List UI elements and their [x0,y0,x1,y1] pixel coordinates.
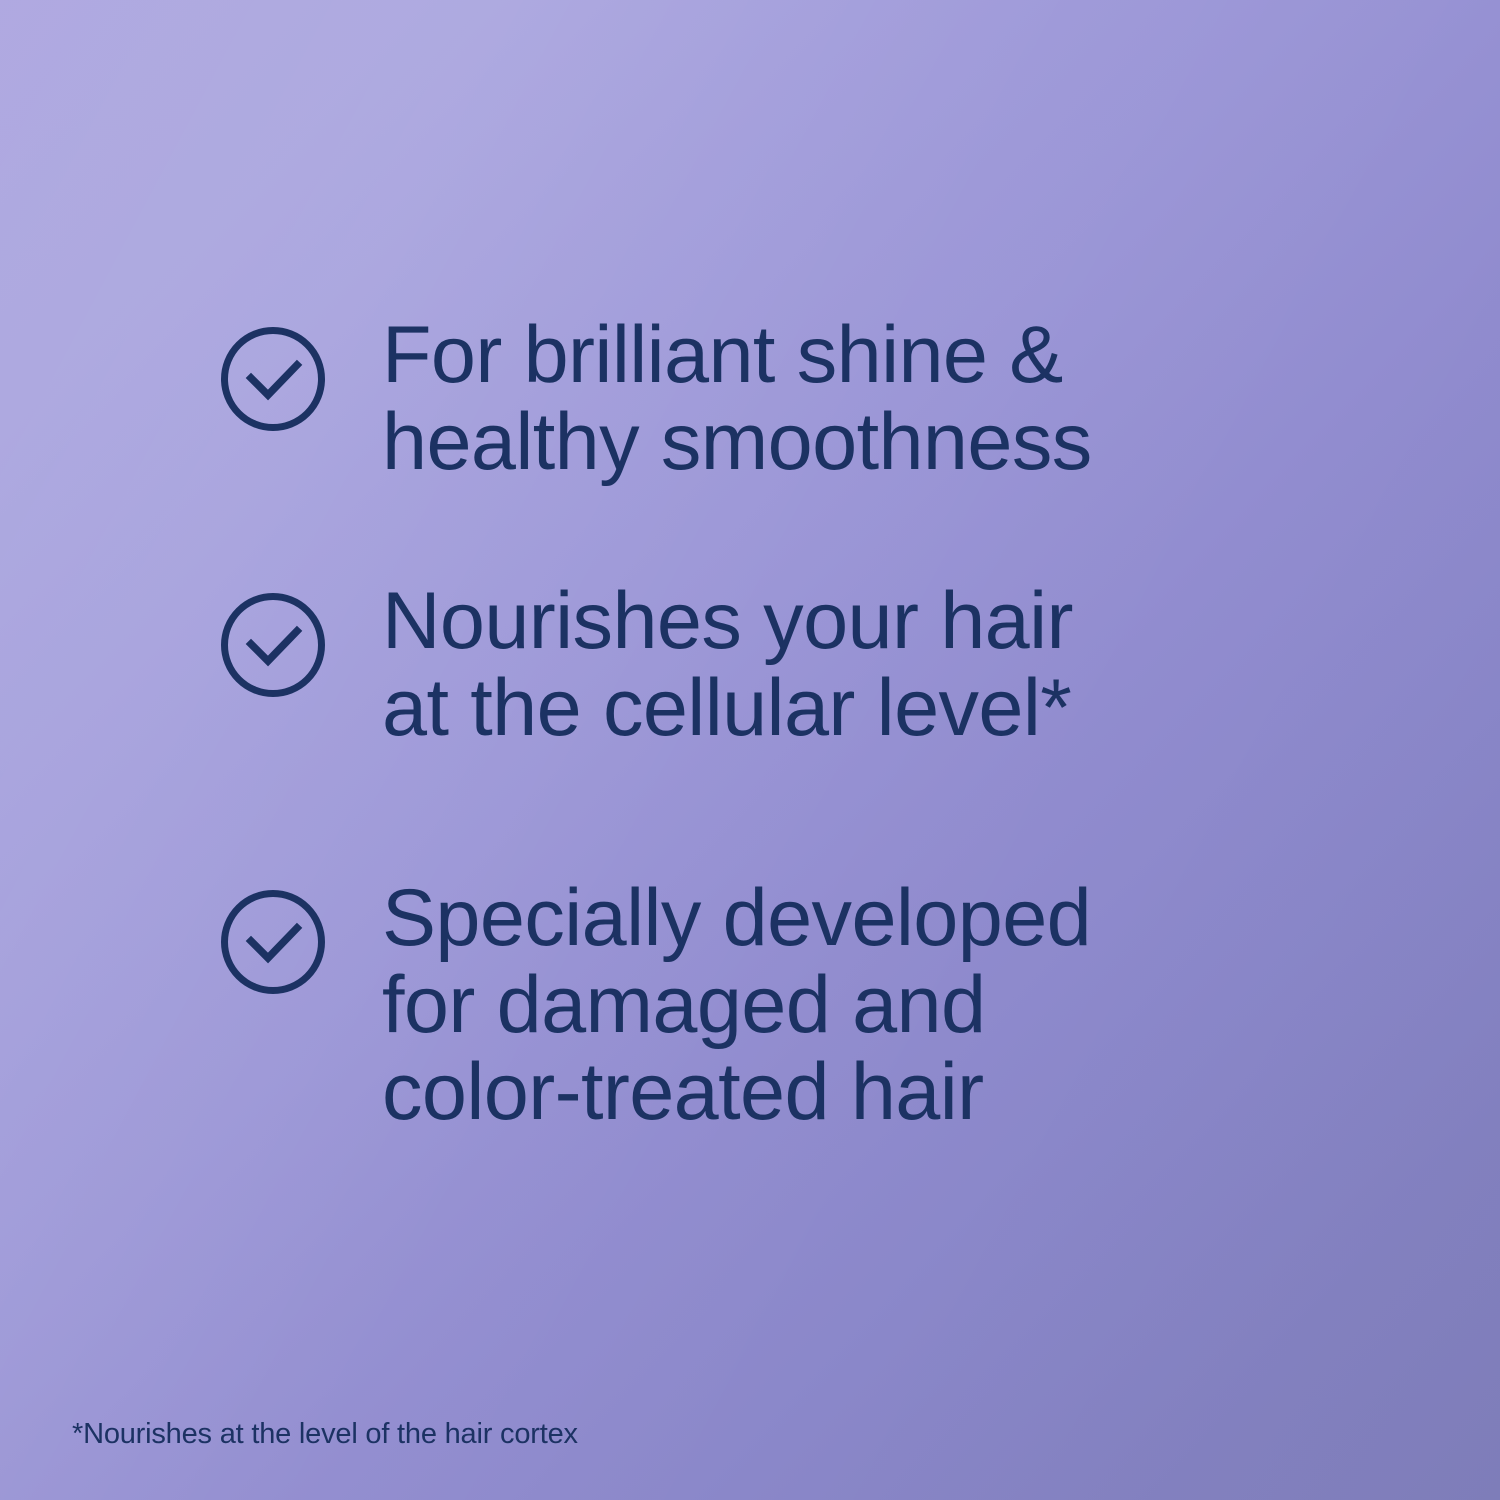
footnote-text: *Nourishes at the level of the hair cort… [72,1417,578,1451]
benefit-item-label: Nourishes your hair at the cellular leve… [382,578,1073,752]
check-circle-icon [220,326,326,432]
benefit-item: Specially developed for damaged and colo… [220,889,1091,1150]
promo-canvas: For brilliant shine & healthy smoothness… [0,0,1500,1500]
benefit-item-label: Specially developed for damaged and colo… [382,875,1091,1136]
benefit-item: For brilliant shine & healthy smoothness [220,326,1092,500]
check-circle-icon [220,889,326,995]
check-circle-icon [220,592,326,698]
content-root: For brilliant shine & healthy smoothness… [0,0,1500,1500]
benefit-item-label: For brilliant shine & healthy smoothness [382,312,1092,486]
benefit-item: Nourishes your hair at the cellular leve… [220,592,1073,766]
